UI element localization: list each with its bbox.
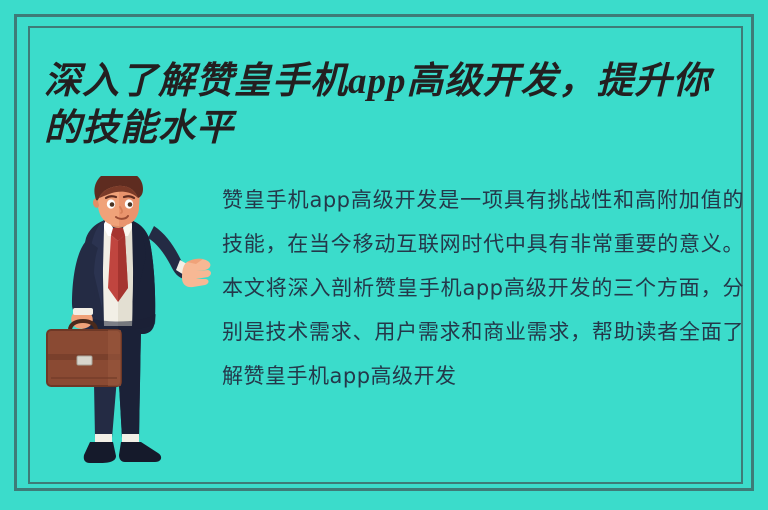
- poster-canvas: 深入了解赞皇手机app高级开发，提升你的技能水平 赞皇手机app高级开发是一项具…: [0, 0, 768, 510]
- businessman-illustration: [46, 176, 212, 478]
- article-body-text: 赞皇手机app高级开发是一项具有挑战性和高附加值的技能，在当今移动互联网时代中具…: [222, 178, 744, 474]
- page-title: 深入了解赞皇手机app高级开发，提升你的技能水平: [44, 58, 744, 153]
